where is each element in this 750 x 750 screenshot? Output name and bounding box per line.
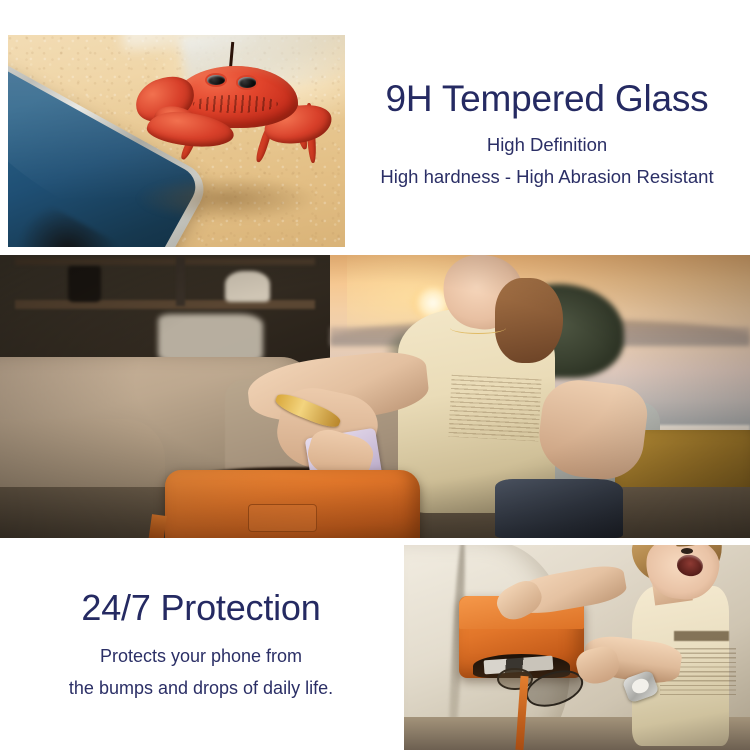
tank-top-label [674, 631, 729, 641]
feature-top-subline-2: High hardness - High Abrasion Resistant [348, 165, 746, 190]
feature-top-subline-1: High Definition [348, 133, 746, 158]
crab-eye [238, 77, 257, 88]
handbag-strap [148, 514, 167, 538]
denim-shorts [495, 479, 623, 538]
shelf-upper [15, 258, 315, 265]
crab-beach-photo [8, 35, 345, 247]
crab-eye [207, 75, 226, 86]
handbag-front-pocket [248, 504, 318, 531]
crab-shadow [136, 175, 318, 222]
surprised-woman-photo [404, 545, 750, 750]
feature-bottom-subline-1: Protects your phone from [6, 644, 396, 668]
feature-bottom-subline-2: the bumps and drops of daily life. [6, 676, 396, 700]
feature-bottom-headline: 24/7 Protection [6, 588, 396, 628]
table-lamp [225, 271, 270, 302]
gold-necklace [450, 322, 506, 334]
living-room-photo [0, 255, 750, 538]
background-pillow [158, 314, 263, 362]
shelf-post [176, 255, 185, 306]
feature-top-text: 9H Tempered Glass High Definition High h… [348, 78, 746, 190]
feature-top-headline: 9H Tempered Glass [348, 78, 746, 119]
feature-bottom-text: 24/7 Protection Protects your phone from… [6, 588, 396, 701]
red-crab [143, 48, 332, 179]
tank-top-print [448, 374, 541, 441]
shelf-lower [15, 300, 315, 308]
woman-hair-side [495, 278, 563, 363]
vase-decor [68, 266, 102, 301]
